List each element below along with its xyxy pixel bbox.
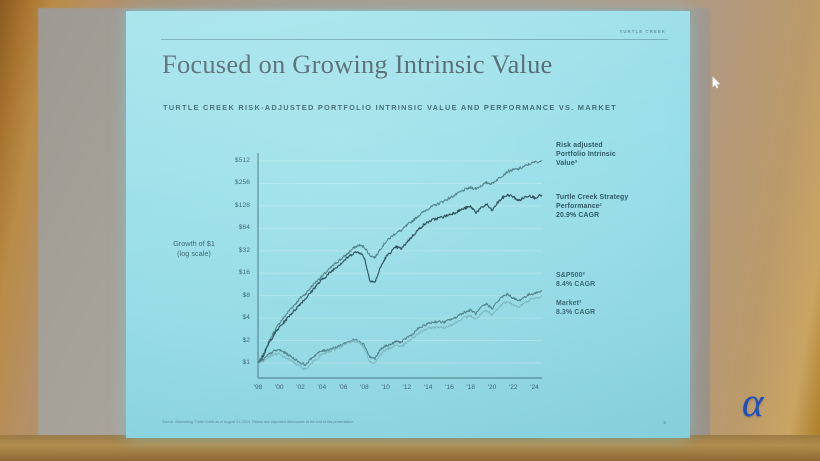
screenshot-root: TURTLE CREEK Focused on Growing Intrinsi… xyxy=(0,0,820,461)
legend-strategy-label: Turtle Creek Strategy Performance¹ xyxy=(556,194,628,212)
y-axis-tick-label: $256 xyxy=(216,179,250,186)
chart-series-line xyxy=(258,194,542,363)
legend-intrinsic-value: Risk adjusted Portfolio Intrinsic Value³ xyxy=(556,142,616,168)
legend-sp500-cagr: 8.4% CAGR xyxy=(556,281,595,290)
y-axis-tick-label: $2 xyxy=(216,337,250,344)
presentation-slide: TURTLE CREEK Focused on Growing Intrinsi… xyxy=(126,11,690,438)
y-axis-tick-label: $16 xyxy=(216,269,250,276)
slide-page-number: 6 xyxy=(664,420,666,425)
wall-baseboard xyxy=(0,435,820,461)
chart-series-line xyxy=(258,296,542,370)
legend-intrinsic-value-label: Risk adjusted Portfolio Intrinsic Value³ xyxy=(556,142,616,168)
y-axis-title-line1: Growth of $1 xyxy=(156,239,232,249)
y-axis-title-line2: (log scale) xyxy=(156,249,232,259)
legend-market-cagr: 8.3% CAGR xyxy=(556,309,595,318)
y-axis-tick-label: $128 xyxy=(216,202,250,209)
mouse-cursor-icon xyxy=(712,76,721,89)
y-axis-tick-label: $64 xyxy=(216,224,250,231)
legend-market: Market² 8.3% CAGR xyxy=(556,300,595,318)
y-axis-tick-label: $4 xyxy=(216,314,250,321)
legend-sp500: S&P500² 8.4% CAGR xyxy=(556,272,595,290)
y-axis-title: Growth of $1 (log scale) xyxy=(156,239,232,259)
chart-series-line xyxy=(258,161,542,363)
legend-market-label: Market² xyxy=(556,300,595,309)
y-axis-tick-label: $8 xyxy=(216,292,250,299)
x-axis-tick-label: '24 xyxy=(523,384,547,391)
alpha-watermark: α xyxy=(742,382,764,423)
intrinsic-value-line-chart xyxy=(126,11,690,438)
chart-container: $1$2$4$8$16$32$64$128$256$512'98'00'02'0… xyxy=(126,11,690,438)
chart-series-line xyxy=(258,291,542,366)
slide-footnote: Source: Bloomberg. Turtle Creek as of Au… xyxy=(162,420,630,425)
legend-sp500-label: S&P500² xyxy=(556,272,595,281)
y-axis-tick-label: $1 xyxy=(216,359,250,366)
y-axis-tick-label: $512 xyxy=(216,157,250,164)
legend-strategy-cagr: 20.9% CAGR xyxy=(556,212,628,221)
legend-strategy: Turtle Creek Strategy Performance¹ 20.9%… xyxy=(556,194,628,220)
